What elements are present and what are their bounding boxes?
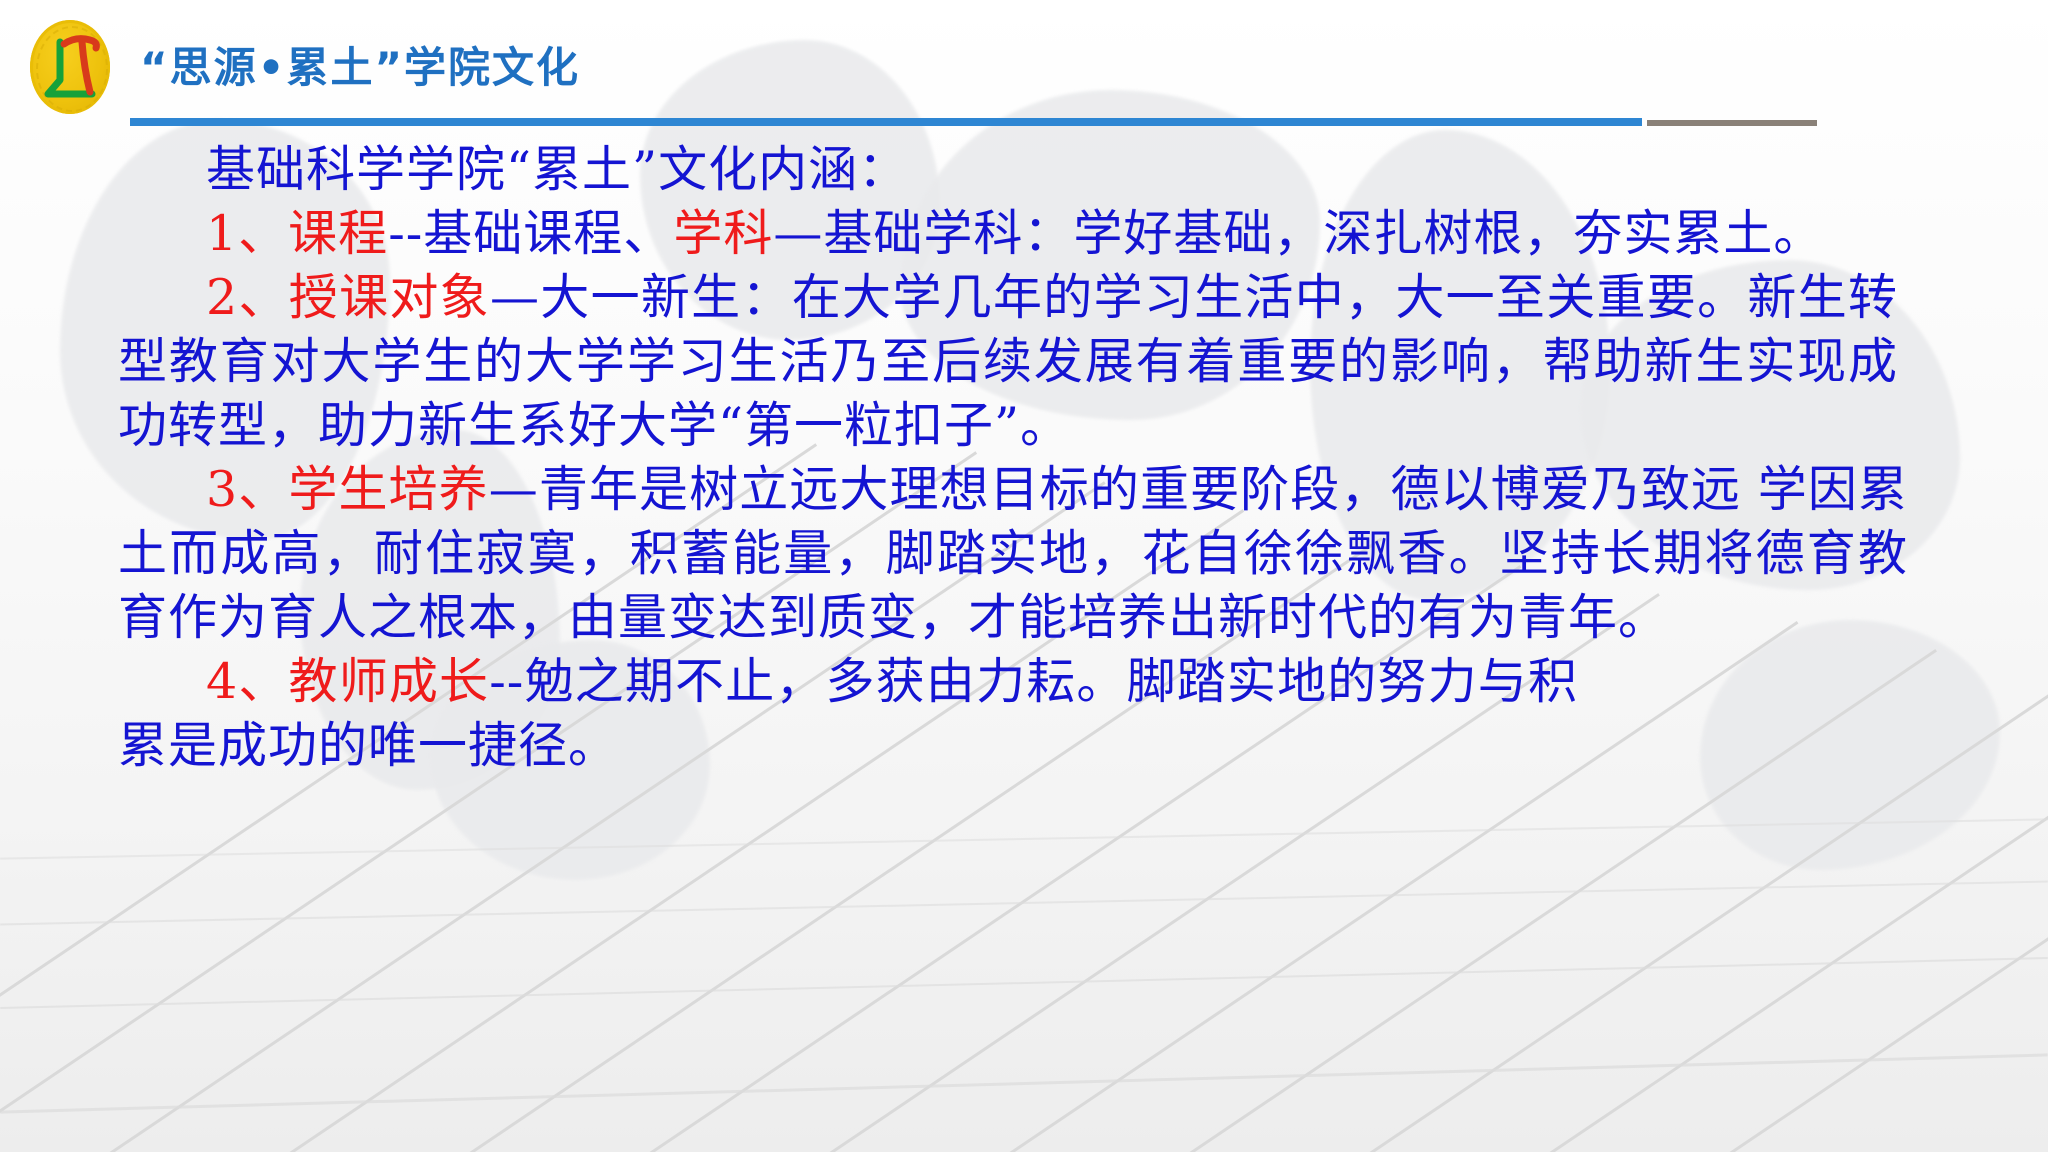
- item-1-body-a: --基础课程、: [388, 205, 673, 262]
- item-4-heading: 4、教师成长: [206, 653, 489, 710]
- background-grid-line: [0, 957, 2047, 1009]
- item-1-heading-2: 学科: [673, 205, 773, 262]
- item-2-heading: 2、授课对象: [206, 269, 490, 326]
- background-grid-line: [0, 1053, 2047, 1113]
- page-title: “思源•累土”学院文化: [140, 34, 580, 95]
- intro-paragraph: 基础科学学院“累土”文化内涵：: [0, 138, 2048, 202]
- item-3-heading: 3、学生培养: [206, 461, 489, 518]
- item-1-body: —基础学科：学好基础，深扎树根，夯实累土。: [773, 205, 1823, 262]
- item-paragraph-2: 2、授课对象—大一新生：在大学几年的学习生活中，大一至关重要。新生转型教育对大学…: [0, 266, 2048, 458]
- slide-header: “思源•累土”学院文化: [0, 0, 2048, 132]
- item-paragraph-4: 4、教师成长--勉之期不止，多获由力耘。脚踏实地的努力与积累是成功的唯一捷径。: [0, 650, 2048, 778]
- header-divider-blue: [130, 118, 1642, 126]
- item-1-heading: 1、课程: [206, 205, 388, 262]
- item-paragraph-3: 3、学生培养—青年是树立远大理想目标的重要阶段，德以博爱乃致远 学因累土而成高，…: [0, 458, 2048, 650]
- item-paragraph-1: 1、课程--基础课程、学科—基础学科：学好基础，深扎树根，夯实累土。: [0, 202, 2048, 266]
- slide-body: 基础科学学院“累土”文化内涵： 1、课程--基础课程、学科—基础学科：学好基础，…: [0, 138, 2048, 778]
- intro-text: 基础科学学院“累土”文化内涵：: [206, 141, 908, 198]
- slide-canvas: “思源•累土”学院文化 基础科学学院“累土”文化内涵： 1、课程--基础课程、学…: [0, 0, 2048, 1152]
- college-emblem-logo: [22, 14, 118, 118]
- emblem-glyph-icon: [30, 20, 110, 114]
- header-divider-gray: [1647, 120, 1817, 126]
